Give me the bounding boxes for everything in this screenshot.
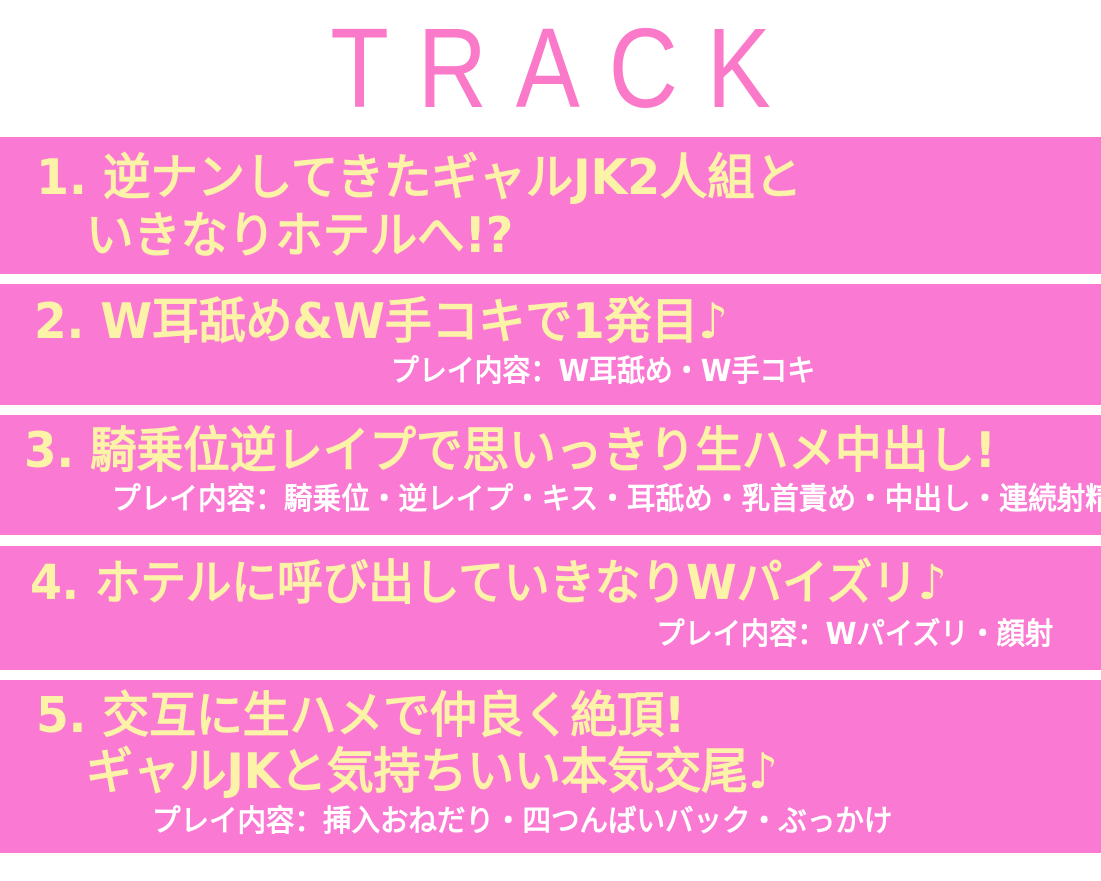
track-5-title-line-1: 5. 交互に生ハメで仲良く絶頂! <box>36 690 685 743</box>
track-list-page: TRACK 1. 逆ナンしてきたギャルJK2人組と いきなりホテルへ!? 2. … <box>0 0 1101 881</box>
track-item-5: 5. 交互に生ハメで仲良く絶頂! ギャルJKと気持ちいい本気交尾♪ プレイ内容：… <box>0 680 1101 853</box>
track-item-2: 2. W耳舐め&W手コキで1発目♪ プレイ内容：W耳舐め・W手コキ <box>0 284 1101 405</box>
page-title: TRACK <box>301 12 799 125</box>
page-header: TRACK <box>0 0 1101 137</box>
track-item-3: 3. 騎乗位逆レイプで思いっきり生ハメ中出し! プレイ内容：騎乗位・逆レイプ・キ… <box>0 415 1101 535</box>
track-1-title-line-2: いきなりホテルへ!? <box>86 210 513 263</box>
track-2-title-line-1: 2. W耳舐め&W手コキで1発目♪ <box>34 296 728 349</box>
track-5-play-content: プレイ内容：挿入おねだり・四つんばいバック・ぶっかけ <box>152 806 892 838</box>
track-5-title-line-2: ギャルJKと気持ちいい本気交尾♪ <box>86 746 778 799</box>
track-4-play-content: プレイ内容：Wパイズリ・顔射 <box>656 619 1053 651</box>
track-1-title-line-1: 1. 逆ナンしてきたギャルJK2人組と <box>36 152 802 205</box>
track-2-play-content: プレイ内容：W耳舐め・W手コキ <box>391 356 815 388</box>
track-4-title-line-1: 4. ホテルに呼び出していきなりWパイズリ♪ <box>30 558 947 610</box>
track-3-play-content: プレイ内容：騎乗位・逆レイプ・キス・耳舐め・乳首責め・中出し・連続射精 <box>112 484 1101 516</box>
track-item-1: 1. 逆ナンしてきたギャルJK2人組と いきなりホテルへ!? <box>0 137 1101 274</box>
track-3-title-line-1: 3. 騎乗位逆レイプで思いっきり生ハメ中出し! <box>24 425 996 478</box>
track-item-4: 4. ホテルに呼び出していきなりWパイズリ♪ プレイ内容：Wパイズリ・顔射 <box>0 546 1101 670</box>
